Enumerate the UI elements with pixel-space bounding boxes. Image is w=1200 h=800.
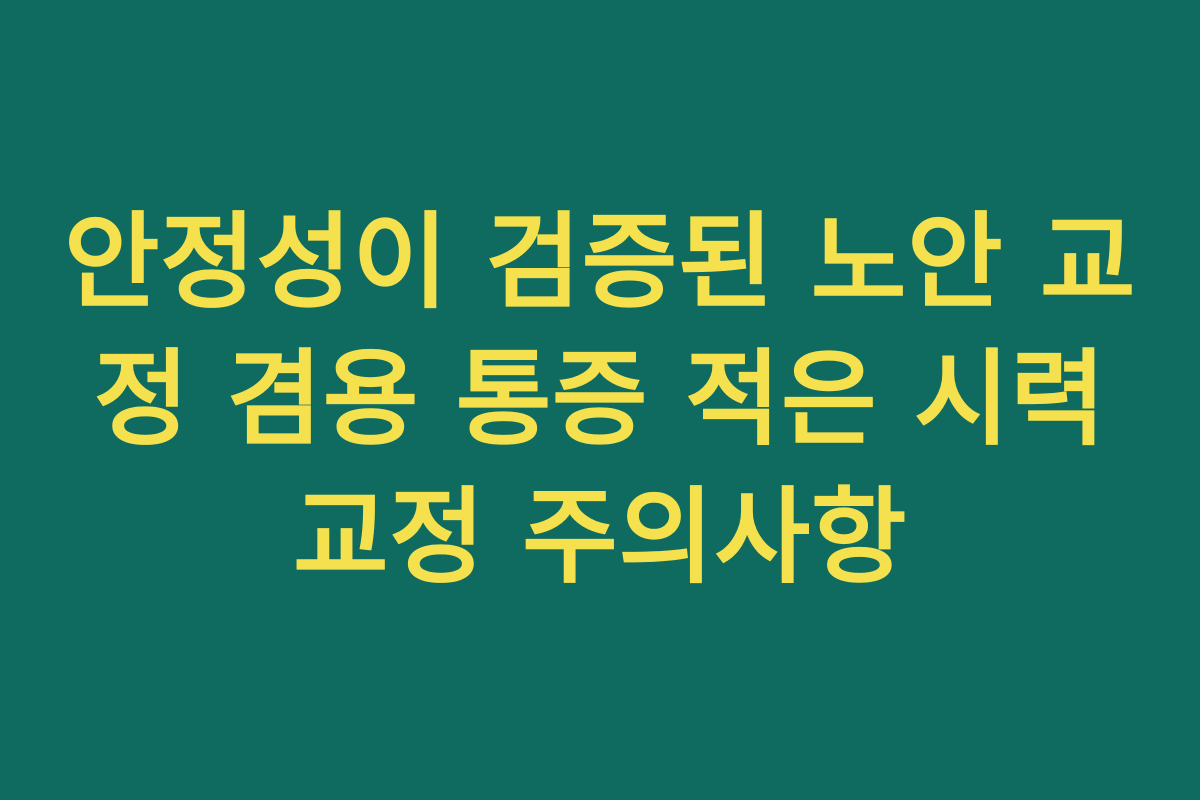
title-card: 안정성이 검증된 노안 교 정 겸용 통증 적은 시력 교정 주의사항 [0,0,1200,800]
headline-line-1: 안정성이 검증된 노안 교 [50,194,1150,331]
headline-text: 안정성이 검증된 노안 교 정 겸용 통증 적은 시력 교정 주의사항 [40,194,1160,606]
headline-line-3: 교정 주의사항 [50,469,1150,606]
headline-line-2: 정 겸용 통증 적은 시력 [50,331,1150,468]
